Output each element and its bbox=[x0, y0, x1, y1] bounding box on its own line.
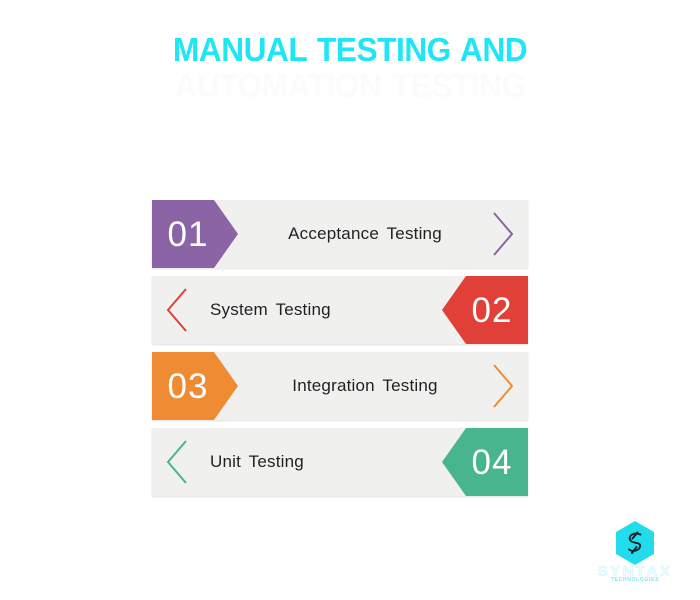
list-item[interactable]: 01 Acceptance Testing bbox=[152, 200, 528, 268]
step-number: 02 bbox=[458, 293, 513, 328]
testing-levels-list: 01 Acceptance Testing 02 System Testing … bbox=[152, 200, 528, 496]
list-item[interactable]: 02 System Testing bbox=[152, 276, 528, 344]
list-item[interactable]: 03 Integration Testing bbox=[152, 352, 528, 420]
step-label: System Testing bbox=[198, 276, 418, 344]
chevron-left-icon bbox=[164, 439, 190, 485]
step-label: Integration Testing bbox=[262, 352, 468, 420]
step-number: 03 bbox=[168, 369, 223, 404]
step-number: 04 bbox=[458, 445, 513, 480]
chevron-right-icon bbox=[490, 211, 516, 257]
step-number-badge: 02 bbox=[442, 276, 528, 344]
list-item[interactable]: 04 Unit Testing bbox=[152, 428, 528, 496]
page-title-line-1: MANUAL TESTING AND bbox=[14, 32, 686, 68]
step-label: Acceptance Testing bbox=[262, 200, 468, 268]
page-title: MANUAL TESTING AND AUTOMATION TESTING bbox=[0, 32, 700, 103]
step-number: 01 bbox=[168, 217, 223, 252]
step-number-badge: 04 bbox=[442, 428, 528, 496]
page-title-line-2: AUTOMATION TESTING bbox=[14, 68, 686, 104]
syntax-hexagon-s-icon bbox=[614, 520, 656, 566]
logo-subwordmark: TECHNOLOGIES bbox=[596, 578, 674, 583]
brand-logo: SYNTAX TECHNOLOGIES bbox=[596, 520, 674, 586]
step-label: Unit Testing bbox=[198, 428, 418, 496]
chevron-left-icon bbox=[164, 287, 190, 333]
step-number-badge: 01 bbox=[152, 200, 238, 268]
chevron-right-icon bbox=[490, 363, 516, 409]
step-number-badge: 03 bbox=[152, 352, 238, 420]
